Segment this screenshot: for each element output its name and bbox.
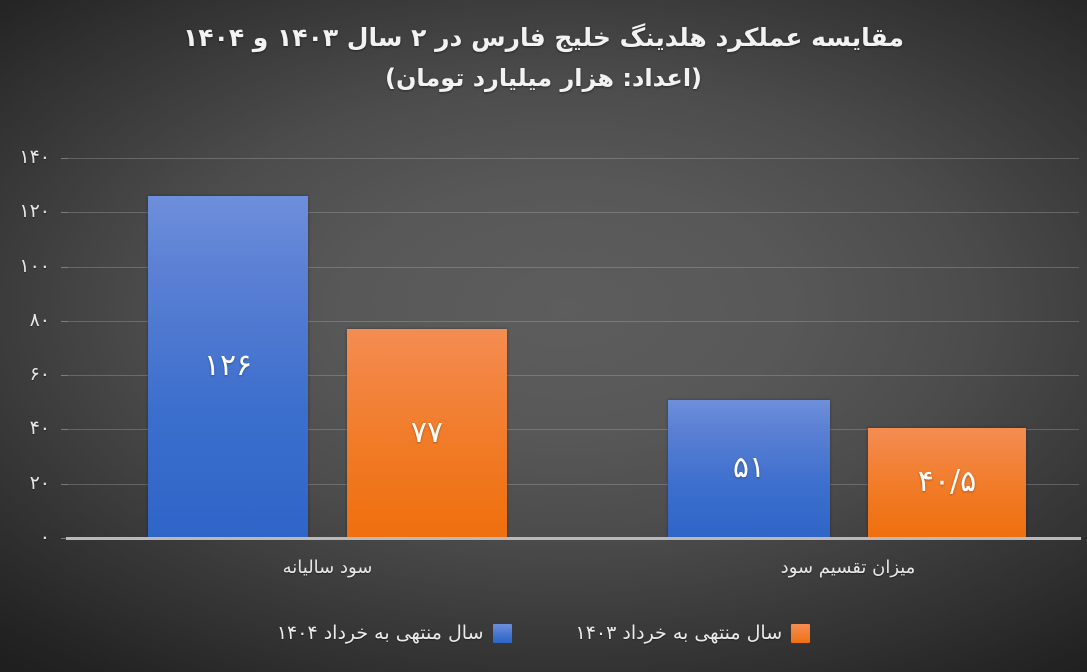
bar-series-b-category-0[interactable]: ۷۷ — [347, 329, 507, 538]
y-axis-tick-mark — [61, 212, 68, 213]
y-axis-tick-label-text: ۱۲۰ — [0, 202, 58, 221]
y-axis-tick-label-text: ۱۰۰ — [0, 257, 58, 276]
y-axis-tick-label: ۱۴۰ — [0, 148, 58, 167]
y-axis-tick-label: ۰ — [0, 528, 58, 547]
legend-item-a[interactable]: سال منتهی به خرداد ۱۴۰۴ — [277, 622, 512, 644]
y-axis-tick-label-text: ۱۴۰ — [0, 148, 58, 167]
bar-value-label: ۵۱ — [668, 453, 830, 483]
x-axis-category-label-1: میزان تقسیم سود — [698, 556, 998, 580]
plot-area: ۱۴۰۱۲۰۱۰۰۸۰۶۰۴۰۲۰۰۱۲۶۵۱۷۷۴۰/۵ — [68, 158, 1079, 538]
legend-swatch-icon — [493, 624, 512, 643]
y-axis-tick-mark — [61, 321, 68, 322]
chart-legend: سال منتهی به خرداد ۱۴۰۴سال منتهی به خردا… — [0, 622, 1087, 644]
legend-swatch-icon — [791, 624, 810, 643]
y-axis-tick-mark — [61, 429, 68, 430]
bar-value-label: ۷۷ — [347, 418, 507, 448]
y-axis-tick-mark — [61, 158, 68, 159]
y-axis-tick-label: ۶۰ — [0, 365, 58, 384]
y-axis-tick-label: ۱۲۰ — [0, 202, 58, 221]
y-axis-tick-mark — [61, 375, 68, 376]
gridline — [68, 158, 1079, 159]
chart-title-block: مقایسه عملکرد هلدینگ خلیج فارس در ۲ سال … — [0, 18, 1087, 98]
y-axis-tick-mark — [61, 267, 68, 268]
legend-label: سال منتهی به خرداد ۱۴۰۴ — [277, 622, 484, 644]
y-axis-tick-label-text: ۴۰ — [0, 419, 58, 438]
bar-series-a-category-1[interactable]: ۵۱ — [668, 400, 830, 538]
y-axis-tick-label: ۴۰ — [0, 419, 58, 438]
bar-value-label: ۱۲۶ — [148, 351, 308, 381]
y-axis-tick-label: ۲۰ — [0, 474, 58, 493]
page-title: مقایسه عملکرد هلدینگ خلیج فارس در ۲ سال … — [0, 18, 1087, 58]
chart-canvas: مقایسه عملکرد هلدینگ خلیج فارس در ۲ سال … — [0, 0, 1087, 672]
y-axis-tick-label-text: ۶۰ — [0, 365, 58, 384]
x-axis-line — [66, 537, 1081, 540]
legend-label: سال منتهی به خرداد ۱۴۰۳ — [576, 622, 783, 644]
legend-item-b[interactable]: سال منتهی به خرداد ۱۴۰۳ — [576, 622, 811, 644]
y-axis-tick-label-text: ۲۰ — [0, 474, 58, 493]
bar-series-a-category-0[interactable]: ۱۲۶ — [148, 196, 308, 538]
y-axis-tick-label-text: ۸۰ — [0, 311, 58, 330]
bar-value-label: ۴۰/۵ — [868, 467, 1026, 497]
y-axis-tick-label: ۱۰۰ — [0, 257, 58, 276]
y-axis-tick-mark — [61, 484, 68, 485]
chart-subtitle: (اعداد: هزار میلیارد تومان) — [0, 58, 1087, 98]
y-axis-tick-label: ۸۰ — [0, 311, 58, 330]
x-axis-category-label-0: سود سالیانه — [178, 556, 478, 580]
y-axis-tick-label-text: ۰ — [0, 528, 58, 547]
bar-series-b-category-1[interactable]: ۴۰/۵ — [868, 428, 1026, 538]
